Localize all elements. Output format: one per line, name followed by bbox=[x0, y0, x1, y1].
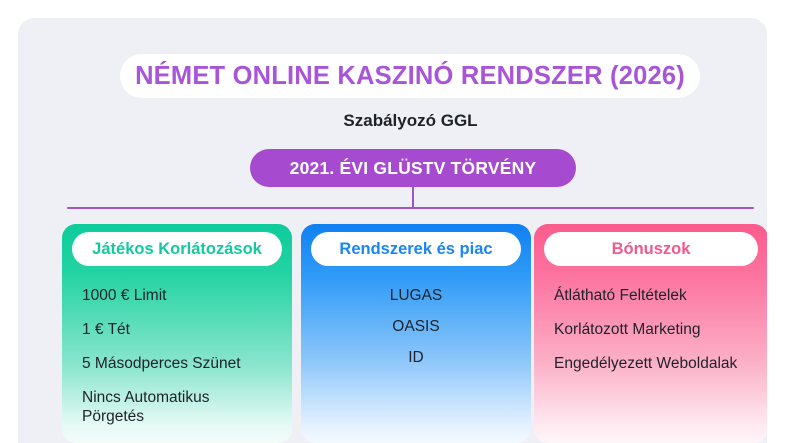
regulation-badge: 2021. ÉVI GLÜSTV TÖRVÉNY bbox=[250, 149, 576, 187]
card-title: Bónuszok bbox=[612, 240, 691, 259]
list-item: 1000 € Limit bbox=[82, 286, 274, 305]
list-item: 5 Másodperces Szünet bbox=[82, 354, 274, 373]
list-item: Korlátozott Marketing bbox=[554, 320, 750, 339]
category-cards-row: Játékos Korlátozások 1000 € Limit 1 € Té… bbox=[18, 224, 767, 443]
card-body-player-restrictions: 1000 € Limit 1 € Tét 5 Másodperces Szüne… bbox=[62, 274, 292, 426]
card-header-player-restrictions: Játékos Korlátozások bbox=[72, 232, 282, 266]
list-item: 1 € Tét bbox=[82, 320, 274, 339]
infographic-canvas: NÉMET ONLINE KASZINÓ RENDSZER (2026) Sza… bbox=[0, 0, 785, 443]
list-item: OASIS bbox=[311, 317, 521, 336]
list-item: Engedélyezett Weboldalak bbox=[554, 354, 750, 373]
subtitle-label: Szabályozó GGL bbox=[18, 111, 767, 131]
card-title: Rendszerek és piac bbox=[339, 240, 492, 259]
page-title: NÉMET ONLINE KASZINÓ RENDSZER (2026) bbox=[135, 62, 685, 91]
card-body-systems-and-market: LUGAS OASIS ID bbox=[301, 274, 531, 379]
connector-vertical-line bbox=[412, 186, 414, 209]
list-item: Átlátható Feltételek bbox=[554, 286, 750, 305]
card-player-restrictions: Játékos Korlátozások 1000 € Limit 1 € Té… bbox=[62, 224, 292, 443]
card-title: Játékos Korlátozások bbox=[92, 240, 262, 259]
connector-horizontal-line bbox=[67, 207, 754, 209]
infographic-panel: NÉMET ONLINE KASZINÓ RENDSZER (2026) Sza… bbox=[18, 18, 767, 443]
list-item: Nincs Automatikus Pörgetés bbox=[82, 388, 274, 426]
card-bonuses: Bónuszok Átlátható Feltételek Korlátozot… bbox=[534, 224, 767, 443]
card-systems-and-market: Rendszerek és piac LUGAS OASIS ID bbox=[301, 224, 531, 443]
card-body-bonuses: Átlátható Feltételek Korlátozott Marketi… bbox=[534, 274, 767, 373]
card-header-bonuses: Bónuszok bbox=[544, 232, 758, 266]
card-header-systems-and-market: Rendszerek és piac bbox=[311, 232, 521, 266]
regulation-badge-label: 2021. ÉVI GLÜSTV TÖRVÉNY bbox=[290, 158, 537, 179]
list-item: ID bbox=[311, 348, 521, 367]
title-badge: NÉMET ONLINE KASZINÓ RENDSZER (2026) bbox=[120, 54, 700, 98]
list-item: LUGAS bbox=[311, 286, 521, 305]
